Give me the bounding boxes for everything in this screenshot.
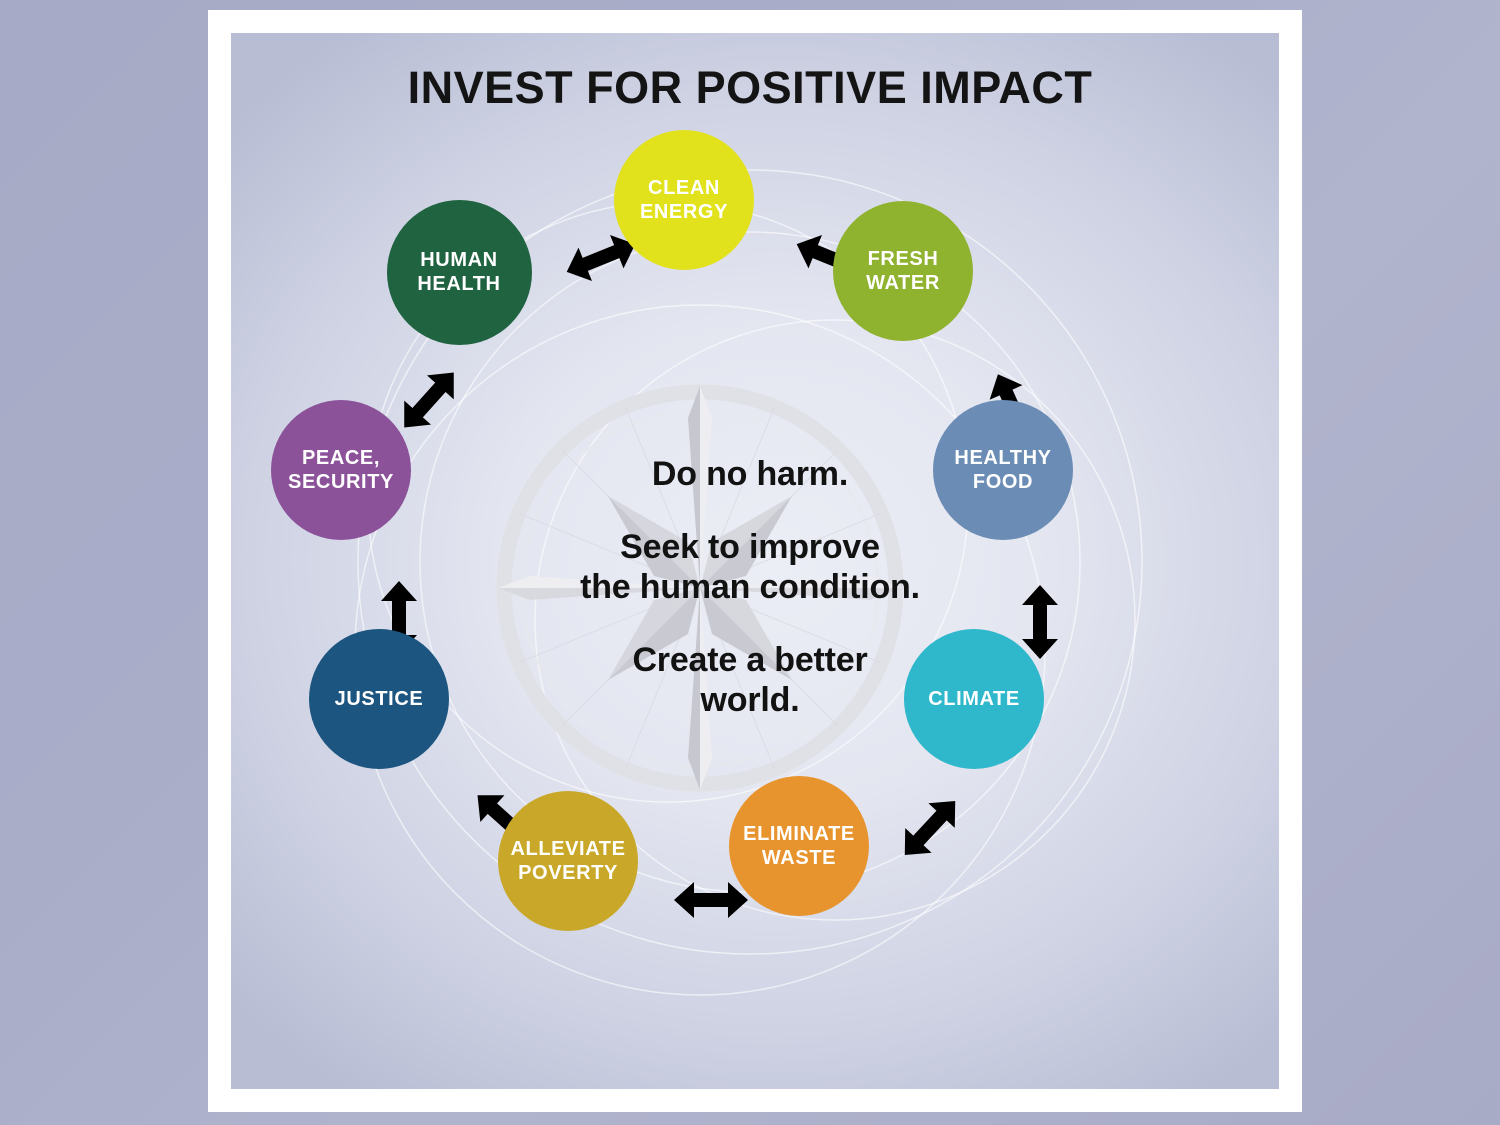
node-label-line-2: HEALTH	[417, 272, 500, 296]
node-label: ALLEVIATEPOVERTY	[510, 837, 625, 886]
node-label-line-1: HEALTHY	[954, 446, 1051, 470]
node-label-line-2: FOOD	[954, 470, 1051, 494]
node-human-health[interactable]: HUMANHEALTH	[387, 200, 532, 345]
node-label: JUSTICE	[335, 687, 424, 711]
node-label: ELIMINATEWASTE	[743, 822, 855, 871]
node-label-line-1: FRESH	[866, 247, 940, 271]
node-climate[interactable]: CLIMATE	[904, 629, 1044, 769]
node-clean-energy[interactable]: CLEANENERGY	[614, 130, 754, 270]
node-label-line-1: ELIMINATE	[743, 822, 855, 846]
node-justice[interactable]: JUSTICE	[309, 629, 449, 769]
mission-line-1: Do no harm.	[515, 455, 985, 494]
slide-canvas: INVEST FOR POSITIVE IMPACT	[0, 0, 1500, 1125]
node-label-line-1: HUMAN	[417, 248, 500, 272]
node-label-line-1: PEACE,	[288, 446, 394, 470]
arrow-healthy-food-climate	[1018, 583, 1062, 661]
node-label-line-2: SECURITY	[288, 470, 394, 494]
node-label-line-1: JUSTICE	[335, 687, 424, 711]
node-label-line-2: WATER	[866, 271, 940, 295]
node-label-line-2: POVERTY	[510, 861, 625, 885]
node-label-line-2: ENERGY	[640, 200, 728, 224]
arrow-eliminate-waste-alleviate-poverty	[672, 878, 750, 922]
node-alleviate-poverty[interactable]: ALLEVIATEPOVERTY	[498, 791, 638, 931]
node-healthy-food[interactable]: HEALTHYFOOD	[933, 400, 1073, 540]
node-label-line-1: CLIMATE	[928, 687, 1020, 711]
page-title: INVEST FOR POSITIVE IMPACT	[0, 62, 1500, 114]
mission-text-do-no-harm: Do no harm.	[515, 455, 985, 494]
node-label: HEALTHYFOOD	[954, 446, 1051, 495]
node-label-line-1: ALLEVIATE	[510, 837, 625, 861]
node-peace-security[interactable]: PEACE,SECURITY	[271, 400, 411, 540]
node-label-line-2: WASTE	[743, 846, 855, 870]
node-label: CLEANENERGY	[640, 176, 728, 225]
node-label: FRESHWATER	[866, 247, 940, 296]
mission-line-2: Seek to improve the human condition.	[515, 528, 985, 607]
mission-text-seek-improve: Seek to improve	[515, 528, 985, 567]
double-arrow-icon	[1018, 583, 1062, 661]
node-label: PEACE,SECURITY	[288, 446, 394, 495]
node-fresh-water[interactable]: FRESHWATER	[833, 201, 973, 341]
mission-text-human-condition: the human condition.	[515, 568, 985, 607]
node-eliminate-waste[interactable]: ELIMINATEWASTE	[729, 776, 869, 916]
double-arrow-icon	[672, 878, 750, 922]
node-label-line-1: CLEAN	[640, 176, 728, 200]
node-label: HUMANHEALTH	[417, 248, 500, 297]
node-label: CLIMATE	[928, 687, 1020, 711]
